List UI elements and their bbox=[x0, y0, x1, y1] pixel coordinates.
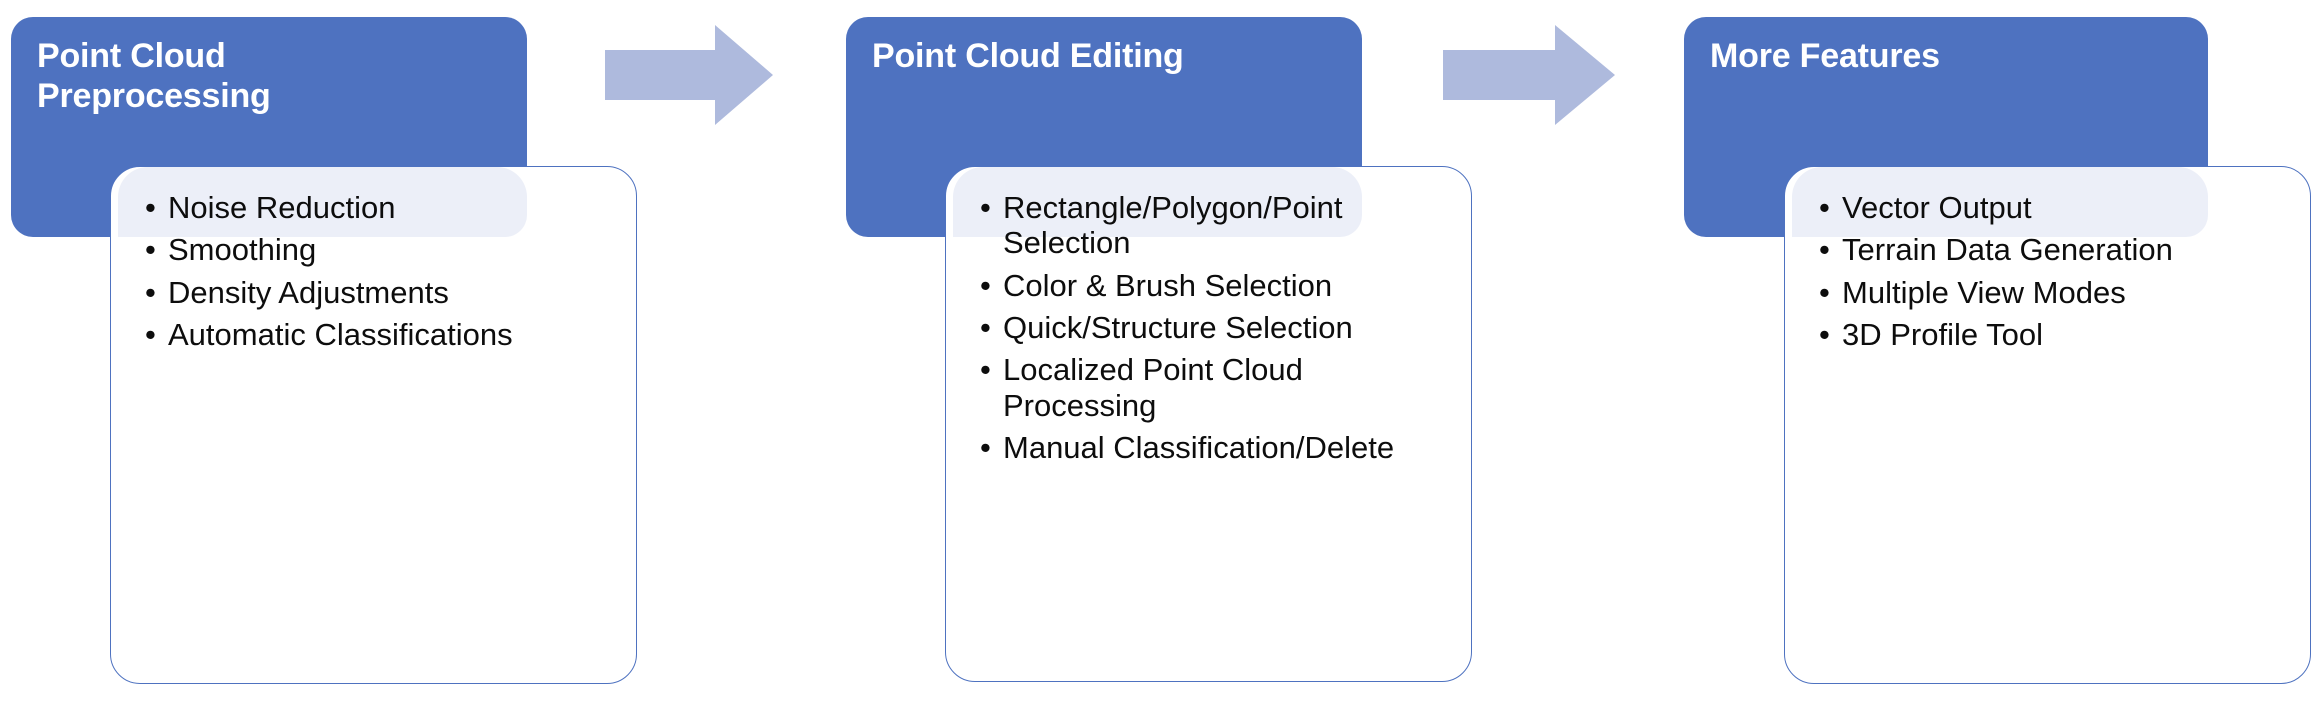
stage-more-features: More Features Vector Output Terrain Data… bbox=[0, 0, 2320, 706]
list-item: Terrain Data Generation bbox=[1817, 232, 2287, 267]
list-item: 3D Profile Tool bbox=[1817, 317, 2287, 352]
feature-list-more-features: Vector Output Terrain Data Generation Mu… bbox=[1817, 190, 2287, 359]
diagram-canvas: Point Cloud Preprocessing Noise Reductio… bbox=[0, 0, 2320, 706]
list-item-label: 3D Profile Tool bbox=[1842, 317, 2043, 352]
list-item: Multiple View Modes bbox=[1817, 275, 2287, 310]
stage-title-more-features: More Features bbox=[1710, 37, 2190, 77]
list-item: Vector Output bbox=[1817, 190, 2287, 225]
list-item-label: Multiple View Modes bbox=[1842, 275, 2126, 310]
list-item-label: Vector Output bbox=[1842, 190, 2032, 225]
list-item-label: Terrain Data Generation bbox=[1842, 232, 2173, 267]
